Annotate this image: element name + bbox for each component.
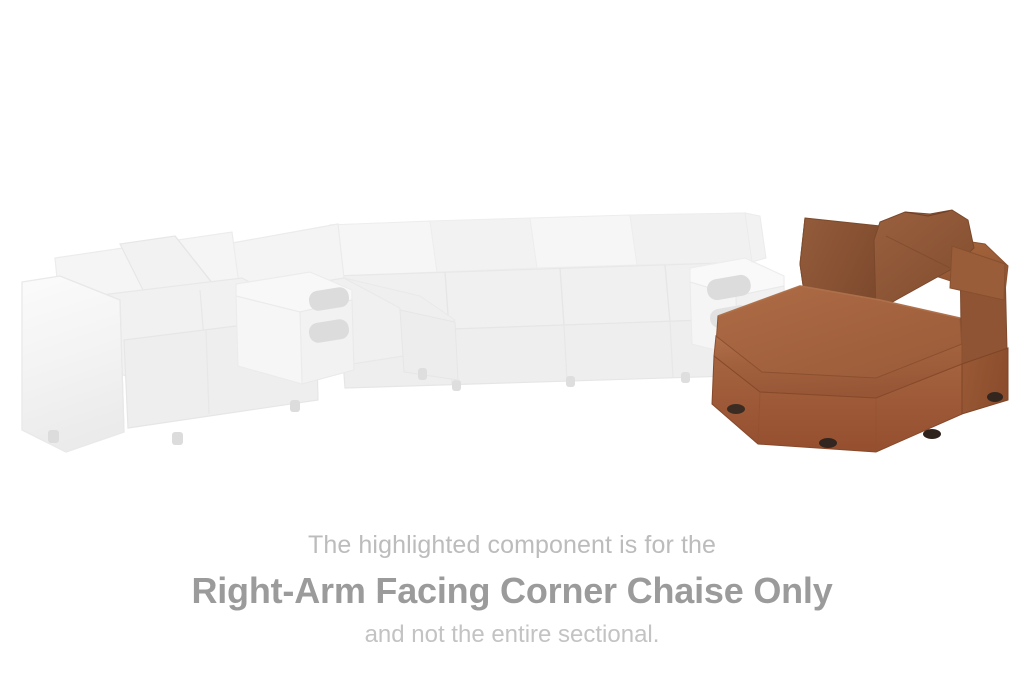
ghost-foot bbox=[418, 368, 427, 380]
caption-line-top: The highlighted component is for the bbox=[0, 528, 1024, 562]
sectional-svg bbox=[0, 0, 1024, 500]
chaise-foot bbox=[819, 438, 837, 448]
chaise-foot bbox=[987, 392, 1003, 402]
product-image-canvas: The highlighted component is for the Rig… bbox=[0, 0, 1024, 683]
chaise-foot bbox=[923, 429, 941, 439]
ghost-console-left bbox=[236, 272, 354, 384]
caption-block: The highlighted component is for the Rig… bbox=[0, 528, 1024, 651]
ghost-foot bbox=[452, 380, 461, 391]
caption-line-bottom: and not the entire sectional. bbox=[0, 618, 1024, 651]
ghost-sectional bbox=[22, 213, 786, 452]
ghost-foot bbox=[681, 372, 690, 383]
sectional-illustration bbox=[0, 0, 1024, 500]
ghost-foot bbox=[290, 400, 300, 412]
ghost-foot bbox=[48, 430, 59, 443]
ghost-foot bbox=[172, 432, 183, 445]
ghost-foot bbox=[566, 376, 575, 387]
caption-line-main: Right-Arm Facing Corner Chaise Only bbox=[0, 566, 1024, 615]
chaise-foot bbox=[727, 404, 745, 414]
